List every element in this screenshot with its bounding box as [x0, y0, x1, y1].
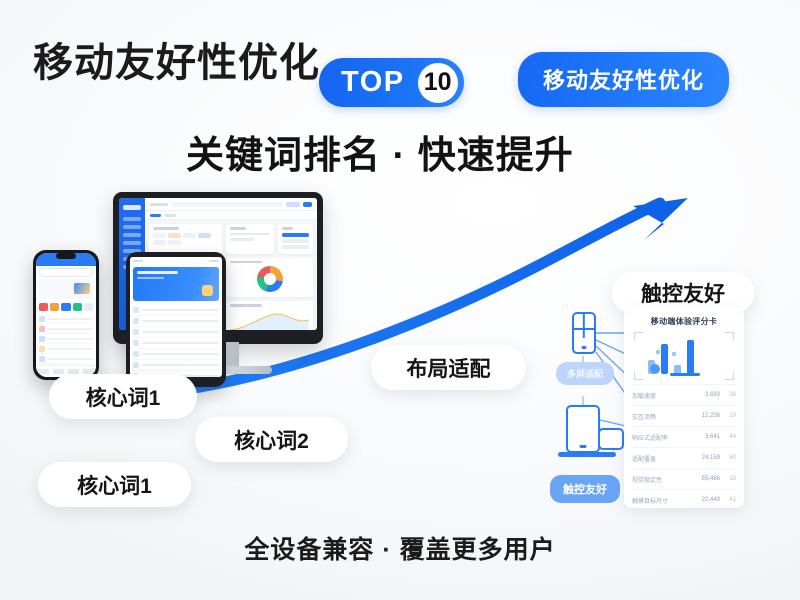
- table-row: 适配覆盖 24,159 60: [632, 447, 736, 468]
- list-item: [39, 354, 93, 364]
- row-value: 24,159: [698, 455, 720, 461]
- poster-canvas: 移动友好性优化 TOP 10 移动友好性优化 关键词排名 · 快速提升: [0, 0, 800, 600]
- dashboard-tabs: [145, 211, 317, 220]
- phone-screen: [36, 253, 96, 377]
- row-pct: 44: [720, 434, 736, 440]
- footer-tagline: 全设备兼容 · 覆盖更多用户: [0, 530, 800, 566]
- device-network-diagram: 多屏适配 触控友好 移动端体验评分卡: [548, 300, 780, 515]
- scorecard-title: 移动端体验评分卡: [632, 316, 736, 327]
- list-item: [39, 324, 93, 334]
- row-label: 触摸目标尺寸: [632, 496, 698, 505]
- row-pct: 60: [720, 455, 736, 461]
- list-item: [133, 360, 219, 371]
- keyword-pill-1[interactable]: 核心词1: [49, 374, 197, 419]
- row-value: 22,449: [698, 497, 720, 503]
- tab: [165, 214, 176, 217]
- header-tag-pill[interactable]: 移动友好性优化: [518, 52, 729, 107]
- row-value: 12,256: [698, 413, 720, 419]
- keyword-pill-3[interactable]: 核心词1: [38, 462, 191, 507]
- scorecard-chart: [634, 332, 734, 380]
- list-item: [133, 349, 219, 360]
- diagram-laptop-icon: [598, 428, 624, 450]
- topbar-label: [150, 203, 168, 206]
- dashboard-area-card-2: [226, 301, 313, 330]
- donut-chart: [257, 266, 283, 292]
- dashboard-topbar: [145, 198, 317, 211]
- topbar-button: [303, 202, 312, 207]
- phone-quick-icons: [36, 301, 96, 313]
- row-pct: 38: [720, 392, 736, 398]
- list-item: [39, 314, 93, 324]
- list-item: [133, 305, 219, 316]
- row-pct: 18: [720, 476, 736, 482]
- row-value: 55,486: [698, 476, 720, 482]
- sidebar-item: [123, 225, 141, 229]
- tablet-banner: [133, 267, 219, 301]
- top-badge-word: TOP: [341, 68, 405, 97]
- dashboard-donut-card: [226, 258, 313, 298]
- topbar-search: [171, 202, 283, 207]
- row-label: 响应式适配率: [632, 433, 698, 442]
- table-row: 交互流畅 12,256 19: [632, 405, 736, 426]
- sidebar-logo: [123, 205, 141, 210]
- row-label: 视觉稳定性: [632, 475, 698, 484]
- sidebar-item: [123, 241, 141, 245]
- tablet-header: [130, 257, 222, 265]
- row-pct: 41: [720, 497, 736, 503]
- diagram-phone-icon: [572, 312, 596, 354]
- row-label: 加载速度: [632, 391, 698, 400]
- list-item: [133, 316, 219, 327]
- phone-dynamic-island: [56, 253, 76, 259]
- diagram-tablet-icon: [566, 405, 600, 453]
- diagram-pill-multiscreen[interactable]: 多屏适配: [556, 362, 614, 385]
- tablet-mockup: [126, 252, 226, 387]
- page-subtitle: 关键词排名 · 快速提升: [186, 124, 574, 179]
- phone-promo-card: [39, 279, 93, 299]
- keyword-pill-2[interactable]: 核心词2: [195, 417, 348, 462]
- banner-badge-icon: [202, 285, 213, 296]
- list-item: [39, 344, 93, 354]
- list-item: [133, 338, 219, 349]
- promo-thumb-icon: [74, 283, 90, 294]
- chart-dot-icon: [650, 364, 660, 374]
- topbar-chip: [286, 202, 300, 207]
- row-label: 适配覆盖: [632, 454, 698, 463]
- page-title: 移动友好性优化: [33, 30, 320, 88]
- diagram-laptop-base: [558, 452, 616, 457]
- sidebar-item: [123, 233, 141, 237]
- top-badge-number: 10: [418, 63, 458, 103]
- row-value: 3,693: [698, 392, 720, 398]
- tab-active: [150, 214, 161, 217]
- row-value: 3,641: [698, 434, 720, 440]
- scorecard-panel: 移动端体验评分卡 加载速度 3,693 38: [624, 308, 744, 508]
- tablet-list: [130, 303, 222, 377]
- dashboard-card: [149, 224, 222, 254]
- sidebar-item: [123, 217, 141, 221]
- phone-mockup: [33, 250, 99, 380]
- diagram-pill-touch[interactable]: 触控友好: [550, 475, 620, 503]
- tablet-screen: [130, 257, 222, 377]
- table-row: 加载速度 3,693 38: [632, 384, 736, 405]
- row-pct: 19: [720, 413, 736, 419]
- list-item: [133, 327, 219, 338]
- row-label: 交互流畅: [632, 412, 698, 421]
- dashboard-card: [278, 224, 313, 254]
- phone-search-field: [39, 268, 93, 277]
- table-row: 触摸目标尺寸 22,449 41: [632, 489, 736, 510]
- table-row: 响应式适配率 3,641 44: [632, 426, 736, 447]
- list-item: [39, 334, 93, 344]
- top-rank-badge: TOP 10: [319, 58, 464, 107]
- table-row: 视觉稳定性 55,486 18: [632, 468, 736, 489]
- dashboard-card: [226, 224, 273, 254]
- keyword-pill-layout-fit[interactable]: 布局适配: [371, 345, 526, 390]
